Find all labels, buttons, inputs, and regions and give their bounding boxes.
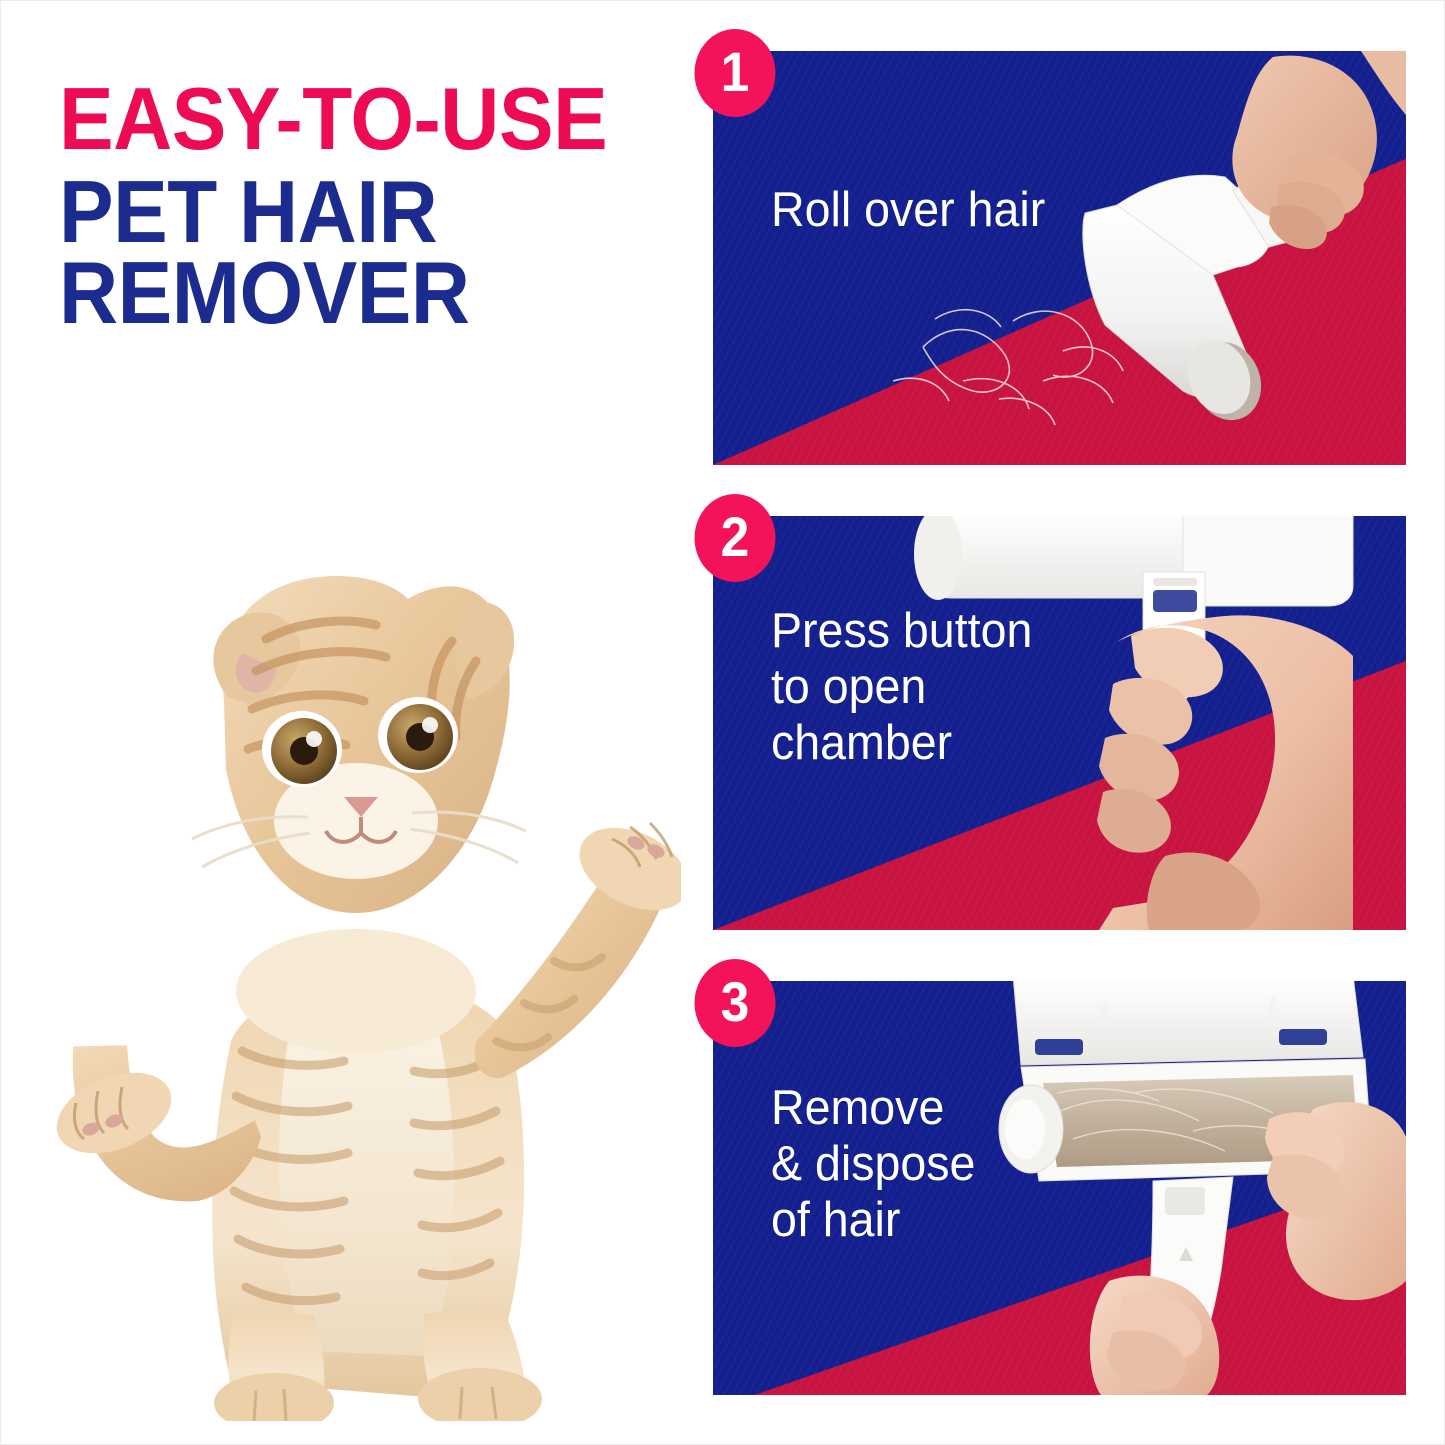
headline-line-2: PET HAIR	[59, 172, 636, 253]
step-1-red-wedge	[713, 51, 1406, 465]
collected-hair	[1043, 1075, 1359, 1167]
cat-neck-ruff	[236, 929, 476, 1053]
cat-illustration	[56, 521, 681, 1421]
step-2-number-badge: 2	[695, 494, 776, 582]
headline-line-3: REMOVER	[59, 253, 636, 334]
step-2-caption: Press button to open chamber	[771, 604, 1032, 772]
cat-eye-right	[378, 697, 458, 773]
step-panel-1[interactable]: Roll over hair 1	[713, 51, 1406, 465]
step-3-caption: Remove & dispose of hair	[771, 1081, 975, 1249]
headline-line-1: EASY-TO-USE	[59, 79, 636, 160]
index-finger	[1131, 628, 1223, 698]
release-button	[1153, 590, 1197, 612]
step-panel-2[interactable]: Press button to open chamber 2	[713, 516, 1406, 930]
step-3-number-badge: 3	[695, 959, 776, 1047]
page-title: EASY-TO-USE PET HAIR REMOVER	[59, 79, 679, 334]
button-channel	[1143, 572, 1205, 712]
step-1-caption: Roll over hair	[771, 183, 1045, 239]
infographic-canvas: EASY-TO-USE PET HAIR REMOVER	[0, 0, 1445, 1445]
hair-chamber	[999, 1059, 1373, 1181]
step-1-background	[713, 51, 1406, 465]
step-panel-3[interactable]: Remove & dispose of hair 3	[713, 981, 1406, 1395]
roller-end-cap	[999, 1085, 1063, 1173]
lid-clip-left	[1035, 1039, 1083, 1055]
cat-eye-left	[262, 711, 342, 787]
chamber-lid	[1013, 981, 1363, 1065]
middle-finger	[1109, 678, 1192, 745]
step-1-number-badge: 1	[695, 29, 776, 117]
lid-clip-right	[1279, 1029, 1327, 1045]
steps-column: Roll over hair 1	[713, 51, 1406, 1395]
hero-cat-photo	[56, 521, 681, 1421]
thumb-and-finger-pinch	[1265, 1112, 1344, 1179]
